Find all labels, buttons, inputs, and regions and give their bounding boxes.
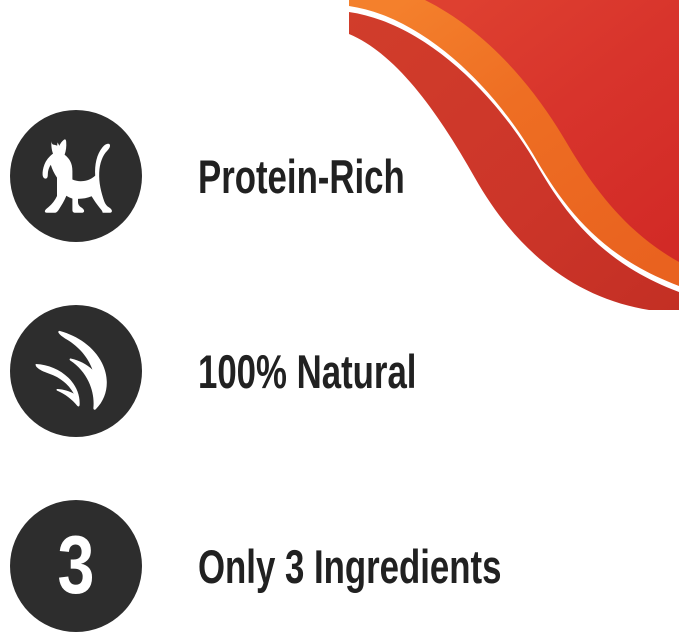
feature-row: 100% Natural bbox=[0, 305, 679, 437]
feature-row: Protein-Rich bbox=[0, 110, 679, 242]
feature-label: Only 3 Ingredients bbox=[198, 543, 501, 590]
feature-label: 100% Natural bbox=[198, 348, 416, 395]
badge-ingredient-count: 3 bbox=[10, 500, 142, 632]
badge-natural bbox=[10, 305, 142, 437]
badge-protein-rich bbox=[10, 110, 142, 242]
product-feature-graphic: Protein-Rich 100% Natural 3 Only 3 Ingre… bbox=[0, 0, 679, 639]
feature-label: Protein-Rich bbox=[198, 153, 405, 200]
leaf-icon bbox=[24, 319, 128, 423]
feature-row: 3 Only 3 Ingredients bbox=[0, 500, 679, 632]
number-three-icon: 3 bbox=[58, 523, 94, 606]
cat-silhouette-icon bbox=[24, 124, 128, 228]
